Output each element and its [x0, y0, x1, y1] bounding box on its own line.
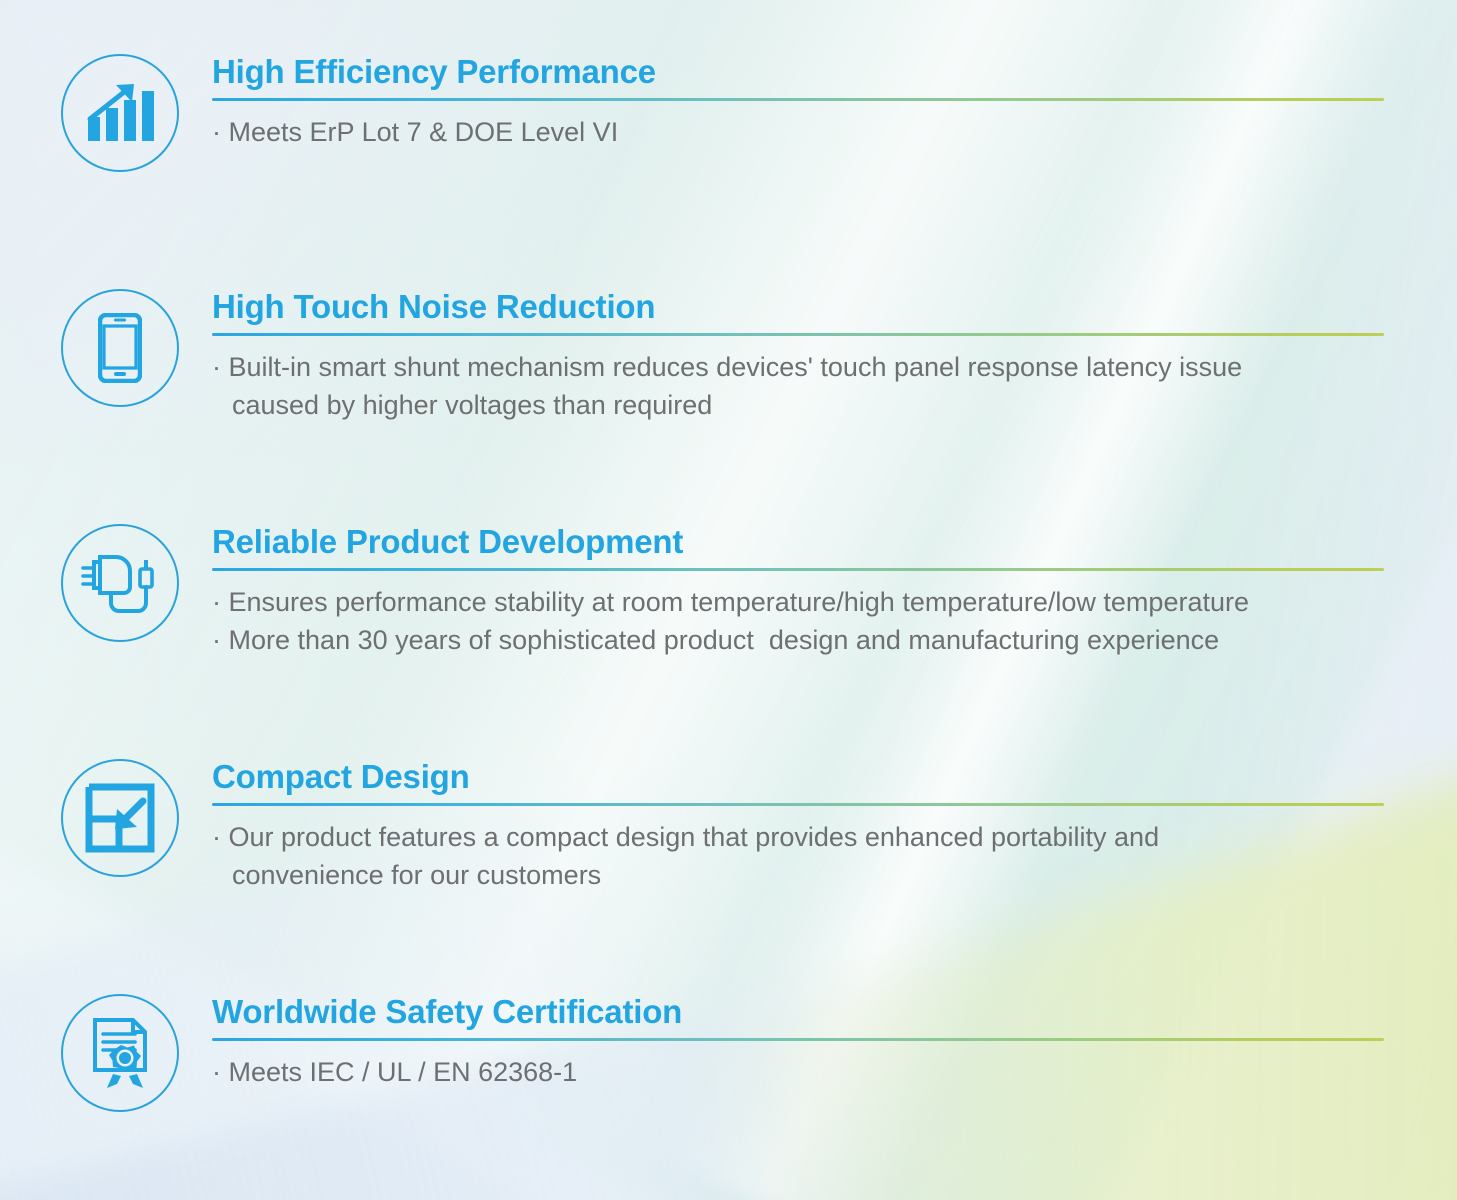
- feature-icon-wrap: [61, 54, 179, 172]
- feature-bullets: · Meets IEC / UL / EN 62368-1: [212, 1053, 1392, 1091]
- bullet-text: Meets ErP Lot 7 & DOE Level VI: [229, 117, 619, 147]
- feature-divider: [212, 568, 1384, 571]
- bullet-item: · Ensures performance stability at room …: [212, 583, 1392, 621]
- bullet-text: Meets IEC / UL / EN 62368-1: [229, 1057, 578, 1087]
- bullet-marker: ·: [212, 587, 221, 617]
- feature-icon-wrap: [61, 524, 179, 642]
- bullet-item: · Our product features a compact design …: [212, 818, 1392, 894]
- feature-icon-wrap: [61, 289, 179, 407]
- feature-bullets: · Meets ErP Lot 7 & DOE Level VI: [212, 113, 1392, 151]
- bullet-text-continued: convenience for our customers: [212, 856, 1392, 894]
- feature-divider: [212, 1038, 1384, 1041]
- feature-bullets: · Built-in smart shunt mechanism reduces…: [212, 348, 1392, 424]
- bullet-item: · Meets IEC / UL / EN 62368-1: [212, 1053, 1392, 1091]
- certificate-award-icon: [61, 994, 179, 1112]
- bullet-text: Ensures performance stability at room te…: [229, 587, 1249, 617]
- feature-list-page: High Efficiency Performance · Meets ErP …: [0, 0, 1457, 1200]
- bullet-text-continued: caused by higher voltages than required: [212, 386, 1392, 424]
- bullet-text: More than 30 years of sophisticated prod…: [229, 625, 1220, 655]
- feature-icon-wrap: [61, 759, 179, 877]
- feature-title: Compact Design: [212, 757, 1392, 797]
- feature-title: High Touch Noise Reduction: [212, 287, 1392, 327]
- feature-title: High Efficiency Performance: [212, 52, 1392, 92]
- feature-title: Worldwide Safety Certification: [212, 992, 1392, 1032]
- feature-divider: [212, 98, 1384, 101]
- power-adapter-icon: [61, 524, 179, 642]
- bullet-marker: ·: [212, 822, 221, 852]
- feature-title: Reliable Product Development: [212, 522, 1392, 562]
- feature-bullets: · Our product features a compact design …: [212, 818, 1392, 894]
- bullet-item: · Built-in smart shunt mechanism reduces…: [212, 348, 1392, 424]
- bullet-text: Our product features a compact design th…: [229, 822, 1160, 852]
- feature-divider: [212, 333, 1384, 336]
- feature-icon-wrap: [61, 994, 179, 1112]
- bullet-text: Built-in smart shunt mechanism reduces d…: [229, 352, 1243, 382]
- feature-body: High Touch Noise Reduction · Built-in sm…: [212, 287, 1392, 424]
- bullet-marker: ·: [212, 625, 221, 655]
- bullet-marker: ·: [212, 117, 221, 147]
- compress-resize-icon: [61, 759, 179, 877]
- feature-body: High Efficiency Performance · Meets ErP …: [212, 52, 1392, 151]
- feature-body: Worldwide Safety Certification · Meets I…: [212, 992, 1392, 1091]
- bullet-item: · Meets ErP Lot 7 & DOE Level VI: [212, 113, 1392, 151]
- bullet-marker: ·: [212, 352, 221, 382]
- smartphone-icon: [61, 289, 179, 407]
- feature-bullets: · Ensures performance stability at room …: [212, 583, 1392, 659]
- feature-list: High Efficiency Performance · Meets ErP …: [0, 0, 1457, 1200]
- feature-body: Reliable Product Development · Ensures p…: [212, 522, 1392, 659]
- bar-chart-growth-icon: [61, 54, 179, 172]
- bullet-item: · More than 30 years of sophisticated pr…: [212, 621, 1392, 659]
- bullet-marker: ·: [212, 1057, 221, 1087]
- feature-divider: [212, 803, 1384, 806]
- feature-body: Compact Design · Our product features a …: [212, 757, 1392, 894]
